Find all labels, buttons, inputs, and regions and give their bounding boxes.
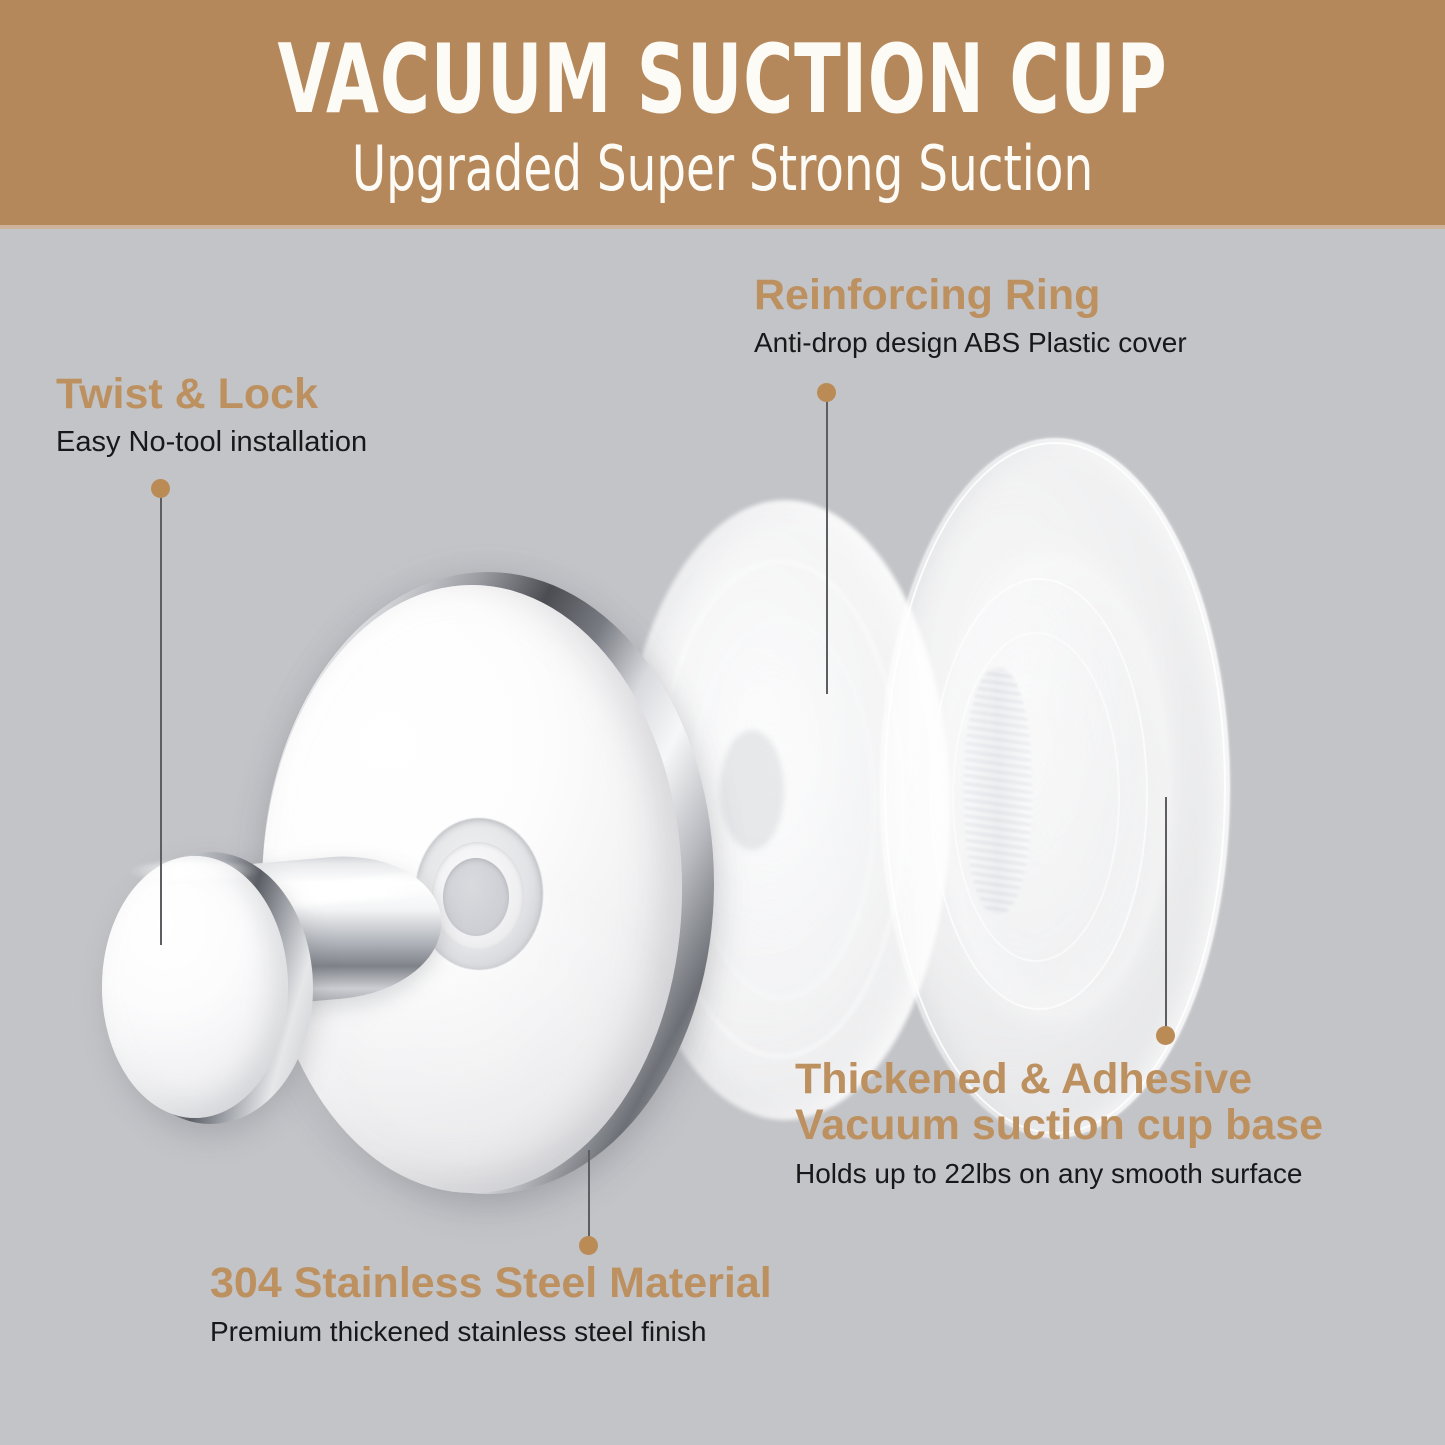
steel-disc-center-hole-graphic: [443, 858, 509, 936]
hook-knob-face-graphic: [102, 856, 288, 1118]
product-illustration: [0, 0, 1445, 1445]
reinforcing-ring-center-hole-graphic: [720, 730, 784, 850]
hook-knob-highlight-graphic: [128, 862, 260, 880]
leader-dot-twist-lock: [151, 479, 170, 498]
leader-line-twist-lock: [160, 497, 162, 945]
callout-reinforcing-ring-title: Reinforcing Ring: [754, 272, 1187, 318]
callout-twist-lock-subtitle: Easy No-tool installation: [56, 426, 367, 459]
callout-twist-lock: Twist & Lock Easy No-tool installation: [56, 371, 367, 460]
callout-suction-base-subtitle: Holds up to 22lbs on any smooth surface: [795, 1158, 1323, 1190]
callout-twist-lock-title: Twist & Lock: [56, 371, 367, 417]
leader-line-suction-base: [1165, 797, 1167, 1027]
callout-suction-base-title-line1: Thickened & Adhesive: [795, 1056, 1323, 1102]
callout-reinforcing-ring-subtitle: Anti-drop design ABS Plastic cover: [754, 327, 1187, 359]
product-infographic: VACUUM SUCTION CUP Upgraded Super Strong…: [0, 0, 1445, 1445]
callout-stainless-subtitle: Premium thickened stainless steel finish: [210, 1316, 772, 1348]
callout-stainless: 304 Stainless Steel Material Premium thi…: [210, 1260, 772, 1349]
callout-suction-base-title-line2: Vacuum suction cup base: [795, 1102, 1323, 1148]
callout-reinforcing-ring: Reinforcing Ring Anti-drop design ABS Pl…: [754, 272, 1187, 360]
leader-line-reinforcing-ring: [826, 401, 828, 694]
suction-cup-threaded-post-graphic: [964, 668, 1032, 914]
callout-stainless-title: 304 Stainless Steel Material: [210, 1260, 772, 1306]
leader-dot-reinforcing-ring: [817, 383, 836, 402]
leader-dot-stainless: [579, 1236, 598, 1255]
leader-line-stainless: [588, 1150, 590, 1246]
leader-dot-suction-base: [1156, 1026, 1175, 1045]
callout-suction-base: Thickened & Adhesive Vacuum suction cup …: [795, 1056, 1323, 1190]
